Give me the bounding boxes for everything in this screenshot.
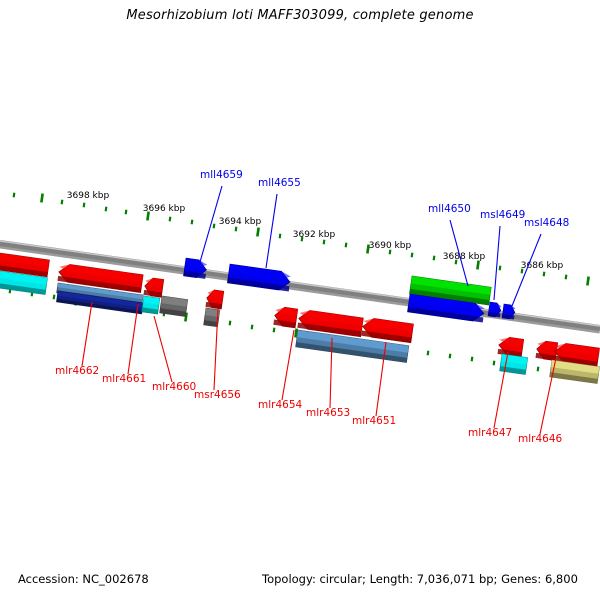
ruler-tick [565,275,568,280]
ruler-tick [586,276,590,285]
ruler-tick-mark [125,210,128,215]
ruler-tick [235,227,238,232]
ruler-tick [279,234,282,239]
ruler-tick [213,224,216,229]
feature-cyan-3[interactable] [500,354,528,374]
ruler-tick-mark [105,207,108,212]
feature-blue-bar-1[interactable] [227,264,291,292]
ruler-tick [433,256,436,261]
ruler-tick [323,240,326,245]
ruler-tick [543,272,546,277]
ruler-tick-mark [13,193,16,198]
gene-label-forward[interactable]: msl4649 [480,209,525,221]
ruler-tick [471,357,474,362]
ruler-tick [40,193,44,202]
ruler-tick-mark [40,193,44,202]
ruler-tick [499,266,502,271]
accession-text: Accession: NC_002678 [18,572,149,586]
label-leader-line [282,330,294,400]
ruler-tick [83,203,86,208]
gene-label-reverse[interactable]: mlr4662 [55,365,99,377]
gene-label-reverse[interactable]: mlr4646 [518,433,563,445]
feature-red-mid-3[interactable] [361,317,413,343]
ruler-tick-mark [345,243,348,248]
ruler-tick-mark [279,234,282,239]
ruler-tick [251,325,254,330]
label-leader-line [154,316,172,382]
ruler-tick-mark [235,227,238,232]
label-leader-line [494,226,500,300]
gene-label-reverse[interactable]: msr4656 [194,389,241,401]
gene-label-forward[interactable]: mll4659 [200,169,243,181]
ruler-tick [191,220,194,225]
ruler-tick-label: 3688 kbp [443,252,486,262]
ruler-tick-mark [433,256,436,261]
ruler-tick-label: 3694 kbp [219,217,262,227]
gene-label-reverse[interactable]: mlr4661 [102,373,146,385]
gene-label-reverse[interactable]: mlr4660 [152,381,196,393]
ruler-tick [53,295,56,300]
feature-cyan-2[interactable] [142,296,160,314]
gene-label-reverse[interactable]: mlr4654 [258,399,303,411]
feature-blue-arrow-3[interactable] [502,304,516,320]
gene-label-reverse[interactable]: mlr4651 [352,415,396,427]
ruler-tick-mark [273,328,276,333]
ruler-tick [229,321,232,326]
ruler-tick [273,328,276,333]
ruler-tick-mark [229,321,232,326]
ruler-tick-mark [543,272,546,277]
ruler-tick-mark [537,367,540,372]
ruler-tick [449,354,452,359]
ruler-tick [125,210,128,215]
feature-red-arrow-1[interactable] [143,277,163,297]
gene-label-reverse[interactable]: mlr4647 [468,427,512,439]
ruler-tick-mark [213,224,216,229]
ruler-tick-mark [493,361,496,366]
ruler-tick-label: 3692 kbp [293,230,336,240]
ruler-tick [169,217,172,222]
ruler-tick [493,361,496,366]
gene-label-forward[interactable]: mll4650 [428,203,471,215]
gene-label-reverse[interactable]: mlr4653 [306,407,350,419]
ruler-tick [105,207,108,212]
ruler-tick-mark [411,253,414,258]
feature-red-arrow-2[interactable] [205,289,223,309]
ruler-tick-label: 3690 kbp [369,241,412,251]
ruler-tick-mark [61,200,64,205]
ruler-tick [537,367,540,372]
ruler-tick-mark [586,276,590,285]
label-leader-line [82,302,92,366]
feature-red-mid-1[interactable] [273,306,297,328]
feature-blue-arrow-2[interactable] [488,302,502,318]
ruler-tick-mark [191,220,194,225]
ruler-tick-label: 3696 kbp [143,204,186,214]
ruler-tick-mark [83,203,86,208]
ruler-tick-mark [251,325,254,330]
genome-summary-text: Topology: circular; Length: 7,036,071 bp… [262,572,578,586]
genome-map-canvas: 3698 kbp3696 kbp3694 kbp3692 kbp3690 kbp… [0,0,600,600]
ruler-tick [411,253,414,258]
ruler-tick-mark [565,275,568,280]
ruler-tick [13,193,16,198]
gene-label-forward[interactable]: msl4648 [524,217,569,229]
ruler-tick-mark [471,357,474,362]
ruler-tick [345,243,348,248]
feature-blue-arrow-1[interactable] [183,258,207,279]
feature-gray-1[interactable] [160,296,188,316]
ruler-tick-mark [427,351,430,356]
genome-map-viewer: Mesorhizobium loti MAFF303099, complete … [0,0,600,600]
label-leader-line [540,358,556,434]
ruler-tick-mark [449,354,452,359]
ruler-tick-mark [323,240,326,245]
label-leader-line [266,194,277,268]
ruler-label-layer: 3698 kbp3696 kbp3694 kbp3692 kbp3690 kbp… [67,191,564,271]
gene-label-forward[interactable]: mll4655 [258,177,301,189]
ruler-tick-mark [169,217,172,222]
ruler-tick [427,351,430,356]
ruler-tick-mark [499,266,502,271]
ruler-tick-mark [53,295,56,300]
label-leader-line [128,304,138,374]
ruler-tick-label: 3698 kbp [67,191,110,201]
feature-red-right-1[interactable] [497,336,523,357]
ruler-tick [61,200,64,205]
ruler-tick-mark [256,227,260,236]
ruler-tick [256,227,260,236]
